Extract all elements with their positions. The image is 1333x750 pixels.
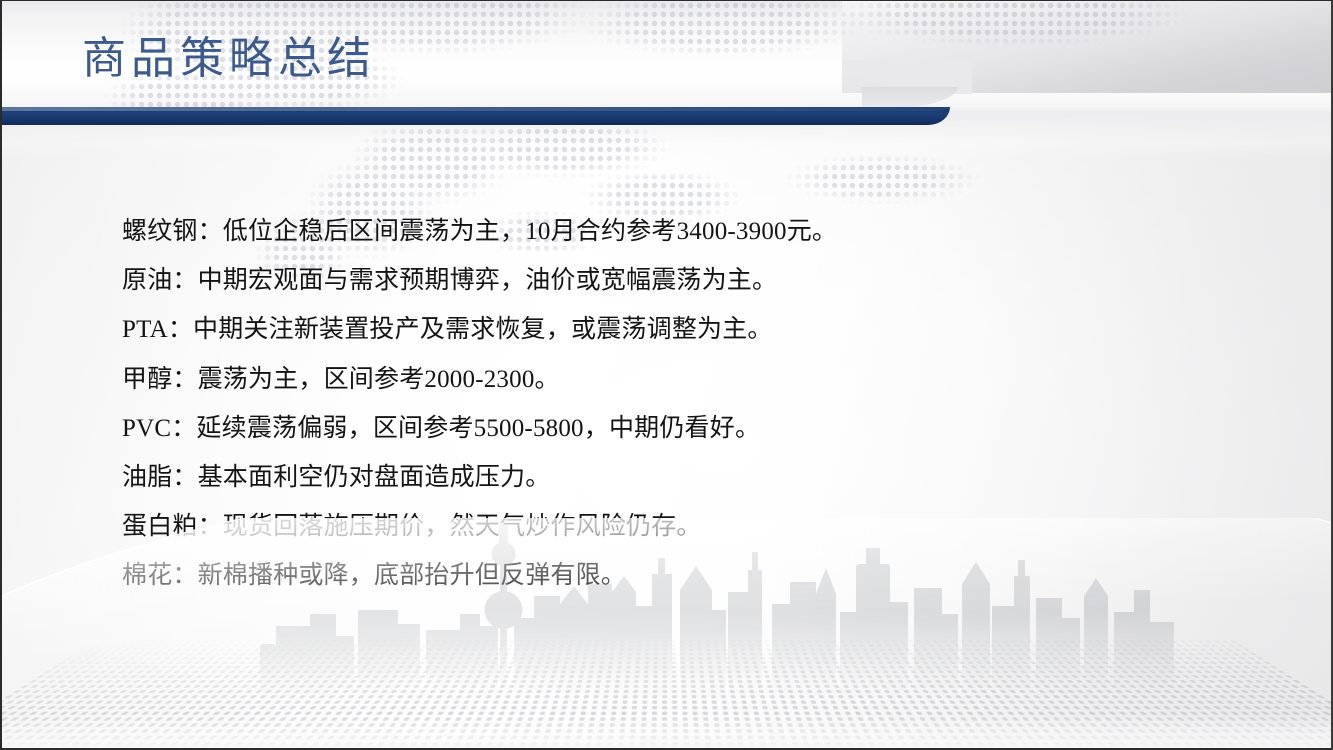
list-item: 螺纹钢：低位企稳后区间震荡为主，10月合约参考3400-3900元。 — [122, 207, 1222, 256]
title-underline-bar — [2, 107, 950, 125]
list-item: 甲醇：震荡为主，区间参考2000-2300。 — [122, 355, 1222, 404]
list-item: PVC：延续震荡偏弱，区间参考5500-5800，中期仍看好。 — [122, 404, 1222, 453]
list-item: PTA：中期关注新装置投产及需求恢复，或震荡调整为主。 — [122, 305, 1222, 354]
footer-fade — [2, 714, 1331, 748]
page-title: 商品策略总结 — [82, 37, 376, 81]
slide-footer-artwork — [2, 518, 1331, 748]
list-item: 原油：中期宏观面与需求预期博弈，油价或宽幅震荡为主。 — [122, 256, 1222, 305]
presentation-slide: 商品策略总结 螺纹钢：低位企稳后区间震荡为主，10月合约参考3400-3900元… — [0, 0, 1333, 750]
list-item: 油脂：基本面利空仍对盘面造成压力。 — [122, 453, 1222, 502]
